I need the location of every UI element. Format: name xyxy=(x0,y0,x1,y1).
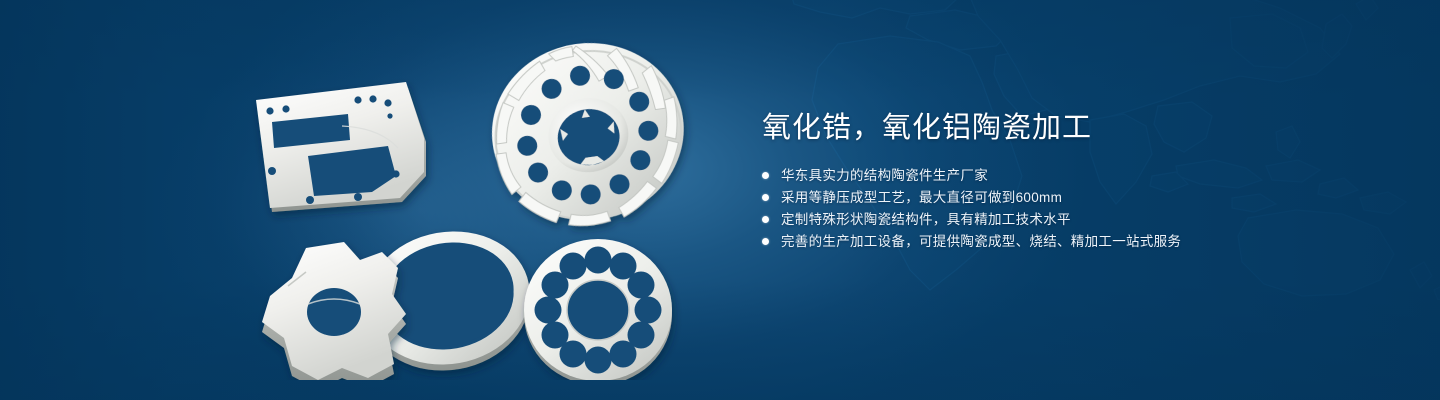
page-title: 氧化锆，氧化铝陶瓷加工 xyxy=(762,108,1382,148)
ceramic-flat-plate xyxy=(256,82,426,212)
list-item: 采用等静压成型工艺，最大直径可做到600mm xyxy=(762,190,1382,205)
hero-banner: 氧化锆，氧化铝陶瓷加工 华东具实力的结构陶瓷件生产厂家 采用等静压成型工艺，最大… xyxy=(0,0,1440,400)
bullet-dot-icon xyxy=(762,172,769,179)
ceramic-cross-plate xyxy=(262,242,406,380)
feature-text: 完善的生产加工设备，可提供陶瓷成型、烧结、精加工一站式服务 xyxy=(781,234,1181,249)
bullet-dot-icon xyxy=(762,216,769,223)
ceramic-impeller xyxy=(481,31,696,238)
feature-text: 华东具实力的结构陶瓷件生产厂家 xyxy=(781,168,988,183)
list-item: 完善的生产加工设备，可提供陶瓷成型、烧结、精加工一站式服务 xyxy=(762,234,1382,249)
banner-copy: 氧化锆，氧化铝陶瓷加工 华东具实力的结构陶瓷件生产厂家 采用等静压成型工艺，最大… xyxy=(762,108,1382,256)
feature-text: 定制特殊形状陶瓷结构件，具有精加工技术水平 xyxy=(781,212,1071,227)
ceramic-products-image xyxy=(230,30,710,380)
feature-list: 华东具实力的结构陶瓷件生产厂家 采用等静压成型工艺，最大直径可做到600mm 定… xyxy=(762,168,1382,249)
feature-text: 采用等静压成型工艺，最大直径可做到600mm xyxy=(781,190,1062,205)
list-item: 华东具实力的结构陶瓷件生产厂家 xyxy=(762,168,1382,183)
list-item: 定制特殊形状陶瓷结构件，具有精加工技术水平 xyxy=(762,212,1382,227)
bullet-dot-icon xyxy=(762,238,769,245)
bullet-dot-icon xyxy=(762,194,769,201)
ceramic-perforated-disc xyxy=(524,239,672,380)
